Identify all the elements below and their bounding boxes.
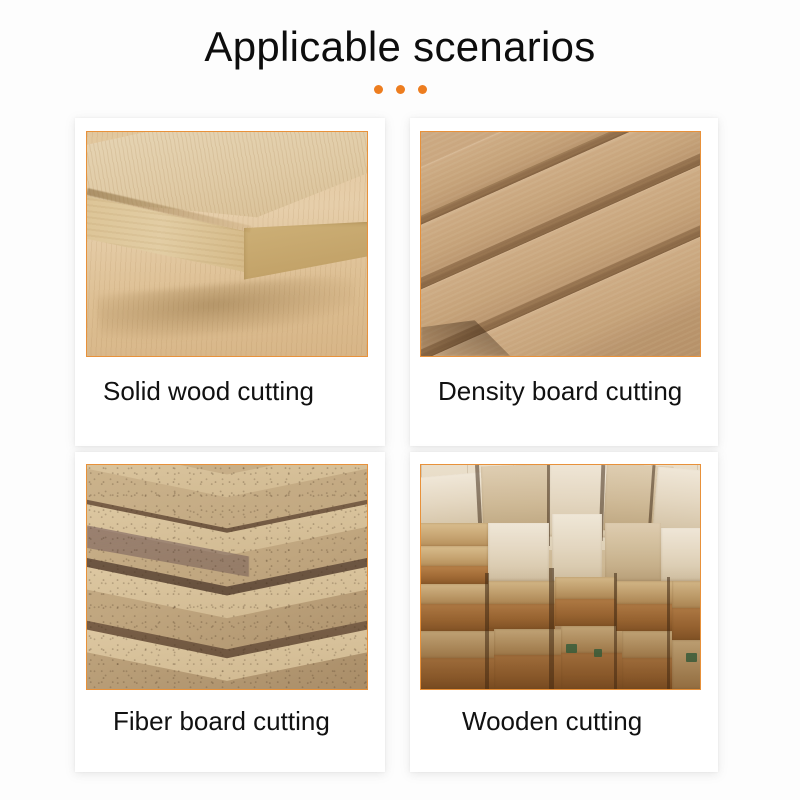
scenario-image-frame <box>86 131 368 357</box>
scenario-caption: Density board cutting <box>410 376 718 407</box>
dot-icon <box>418 85 427 94</box>
solid-wood-photo <box>87 132 367 356</box>
decorative-dot-row <box>374 85 427 94</box>
scenario-card-solid-wood[interactable]: Solid wood cutting <box>75 118 385 446</box>
scenario-card-fiber-board[interactable]: Fiber board cutting <box>75 452 385 772</box>
scenario-image-frame <box>420 131 701 357</box>
density-board-photo <box>421 132 700 356</box>
scenario-caption: Wooden cutting <box>410 706 718 737</box>
page-header: Applicable scenarios <box>0 0 800 118</box>
dot-icon <box>374 85 383 94</box>
wooden-photo <box>421 465 700 689</box>
scenario-card-grid: Solid wood cutting Density board cutting <box>75 118 725 778</box>
scenario-image-frame <box>86 464 368 690</box>
scenario-card-density-board[interactable]: Density board cutting <box>410 118 718 446</box>
scenario-caption: Fiber board cutting <box>75 706 385 737</box>
scenario-caption: Solid wood cutting <box>75 376 385 407</box>
scenario-image-frame <box>420 464 701 690</box>
page-title: Applicable scenarios <box>204 22 595 72</box>
dot-icon <box>396 85 405 94</box>
fiber-board-photo <box>87 465 367 689</box>
scenario-card-wooden[interactable]: Wooden cutting <box>410 452 718 772</box>
